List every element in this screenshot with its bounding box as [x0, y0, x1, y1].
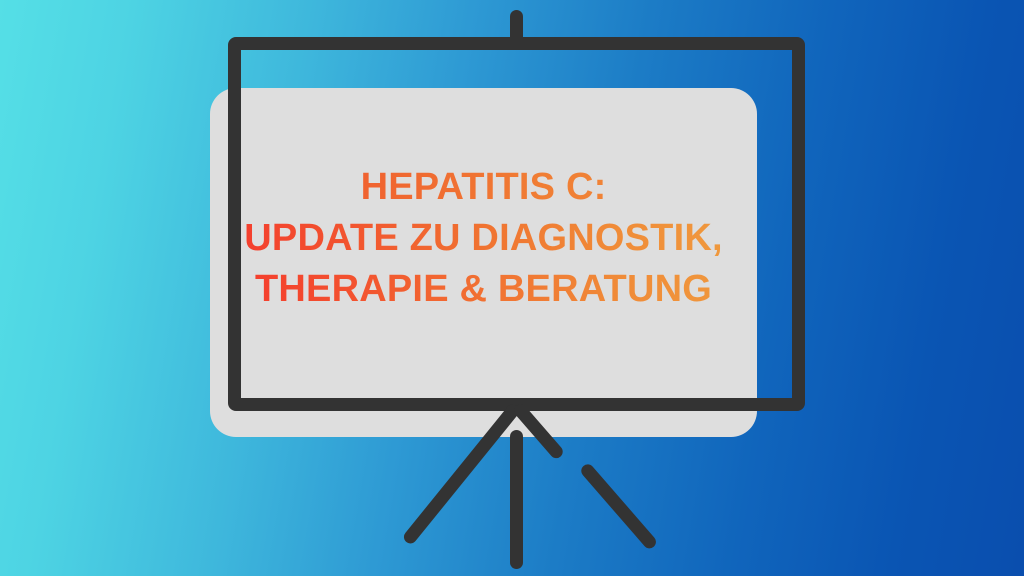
tripod-leg-center-icon [510, 430, 523, 569]
tripod-leg-right-lower-icon [579, 462, 659, 551]
slide-title: HEPATITIS C: UPDATE ZU DIAGNOSTIK, THERA… [212, 162, 755, 315]
mast-icon [510, 10, 523, 42]
presentation-slide: HEPATITIS C: UPDATE ZU DIAGNOSTIK, THERA… [0, 0, 1024, 576]
slide-title-line-3: THERAPIE & BERATUNG [212, 264, 755, 315]
slide-title-line-1: HEPATITIS C: [212, 162, 755, 213]
slide-title-line-2: UPDATE ZU DIAGNOSTIK, [212, 213, 755, 264]
